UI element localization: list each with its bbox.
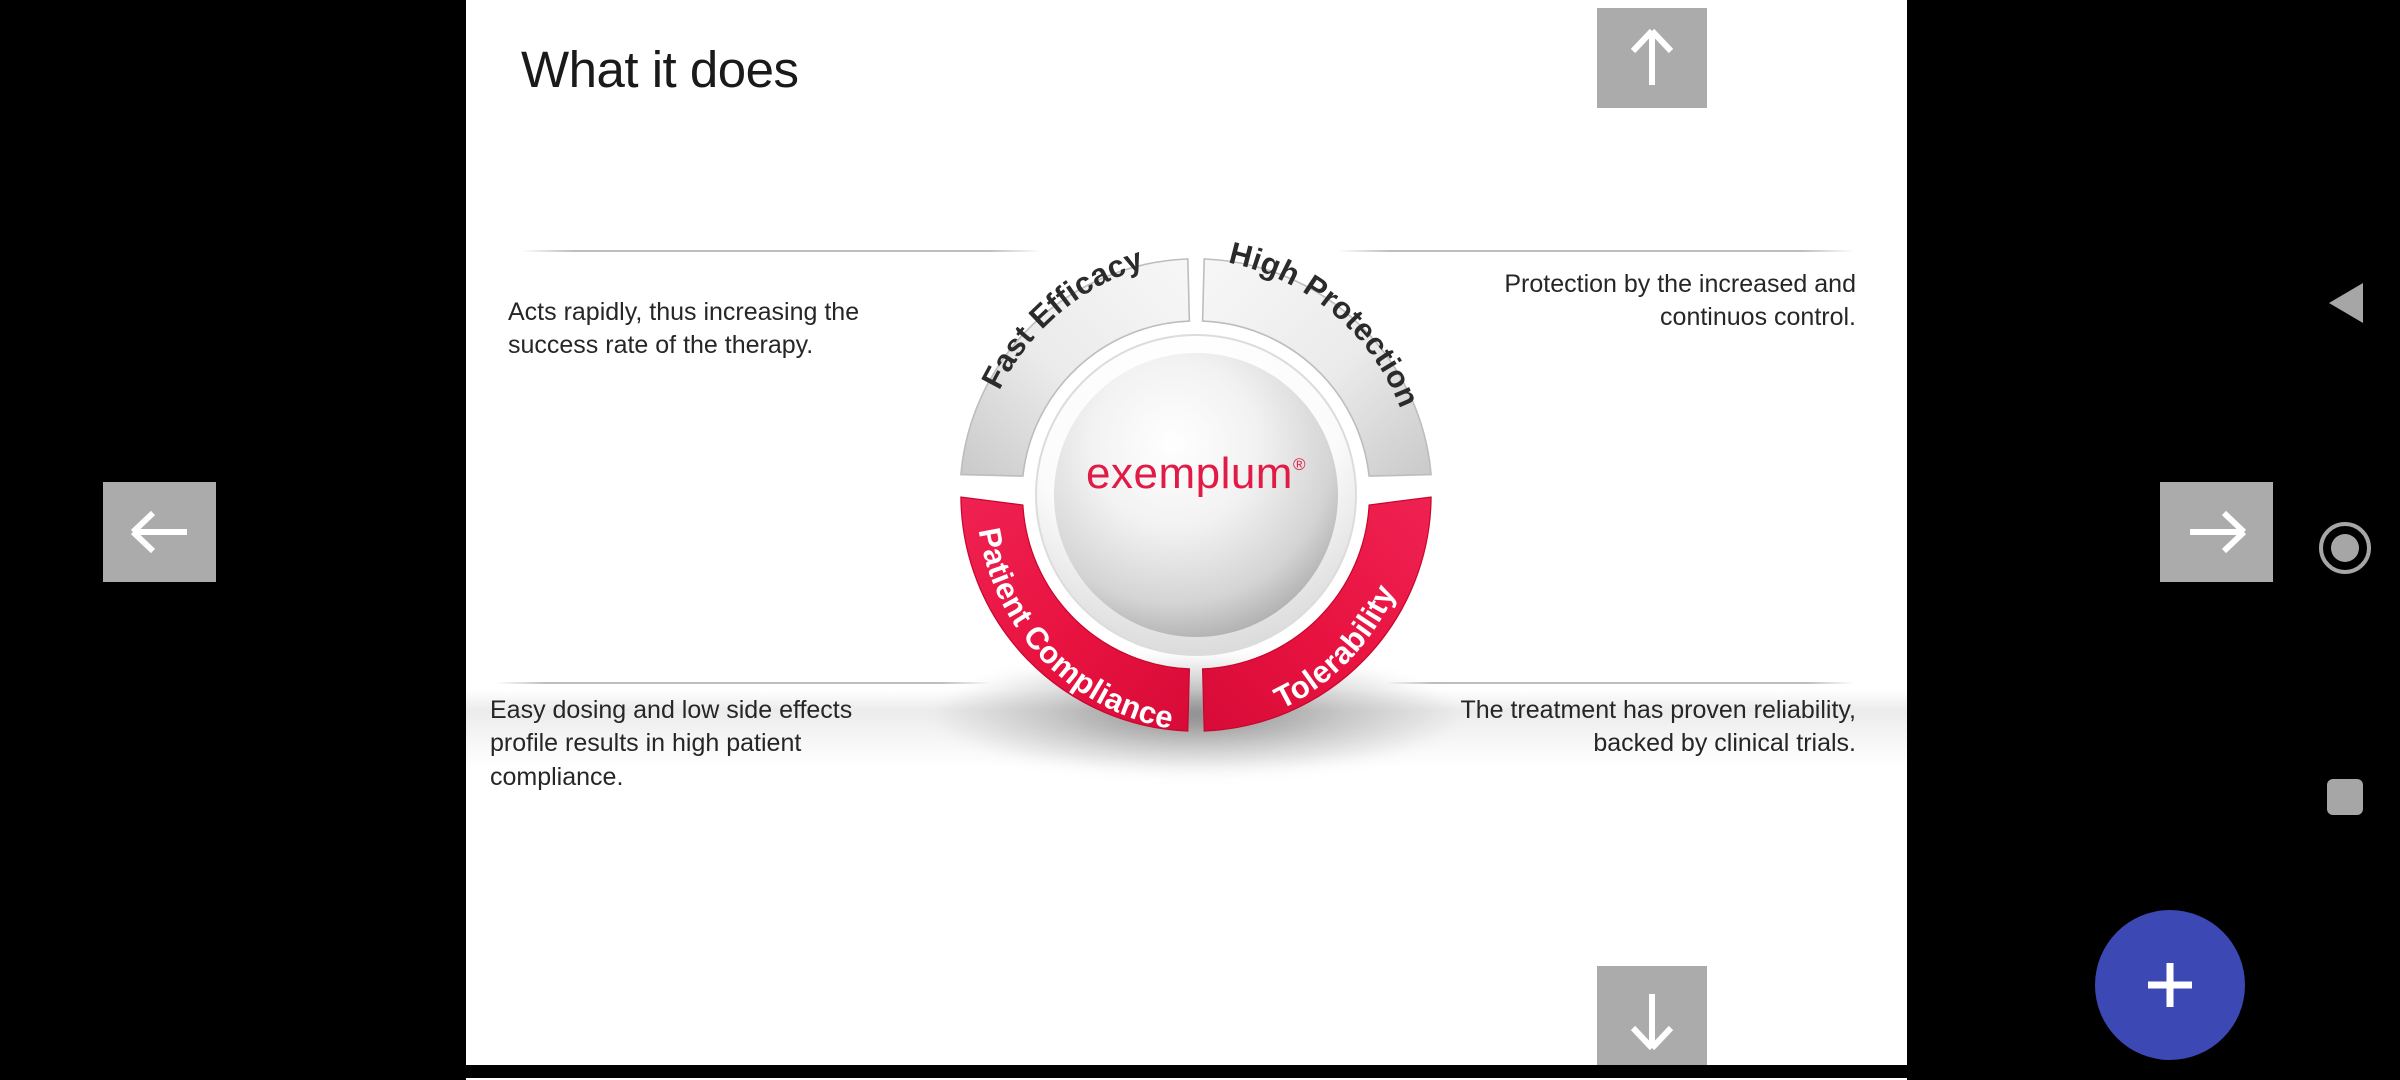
nav-recent-apps-button[interactable]: [2300, 752, 2390, 842]
donut-diagram: Fast Efficacy High Protection Patient Co…: [906, 205, 1486, 785]
brand-logo: exemplum®: [906, 449, 1486, 499]
next-slide-button[interactable]: [2160, 482, 2273, 582]
square-recents-icon: [2324, 776, 2366, 818]
callout-bottom-left: Easy dosing and low side effects profile…: [490, 694, 890, 794]
device-screen: What it does Acts rapidly, thus increasi…: [0, 0, 2400, 1080]
arrow-right-icon: [2186, 509, 2248, 555]
page-title: What it does: [521, 42, 798, 98]
presentation-slide[interactable]: What it does Acts rapidly, thus increasi…: [466, 0, 1907, 1065]
arrow-down-icon: [1628, 990, 1676, 1052]
registered-trademark-icon: ®: [1293, 455, 1306, 474]
nav-back-button[interactable]: [2300, 258, 2390, 348]
brand-logo-text: exemplum: [1086, 449, 1293, 498]
scroll-down-button[interactable]: [1597, 966, 1707, 1065]
nav-home-button[interactable]: [2300, 503, 2390, 593]
arrow-left-icon: [129, 509, 191, 555]
add-floating-action-button[interactable]: [2095, 910, 2245, 1060]
triangle-back-icon: [2323, 279, 2367, 327]
plus-icon: [2141, 956, 2199, 1014]
callout-top-left: Acts rapidly, thus increasing the succes…: [508, 296, 898, 363]
circle-home-icon: [2318, 521, 2372, 575]
callout-top-right: Protection by the increased and continuo…: [1466, 268, 1856, 335]
scroll-up-button[interactable]: [1597, 8, 1707, 108]
callout-bottom-right: The treatment has proven reliability, ba…: [1456, 694, 1856, 761]
arrow-up-icon: [1628, 27, 1676, 89]
previous-slide-button[interactable]: [103, 482, 216, 582]
